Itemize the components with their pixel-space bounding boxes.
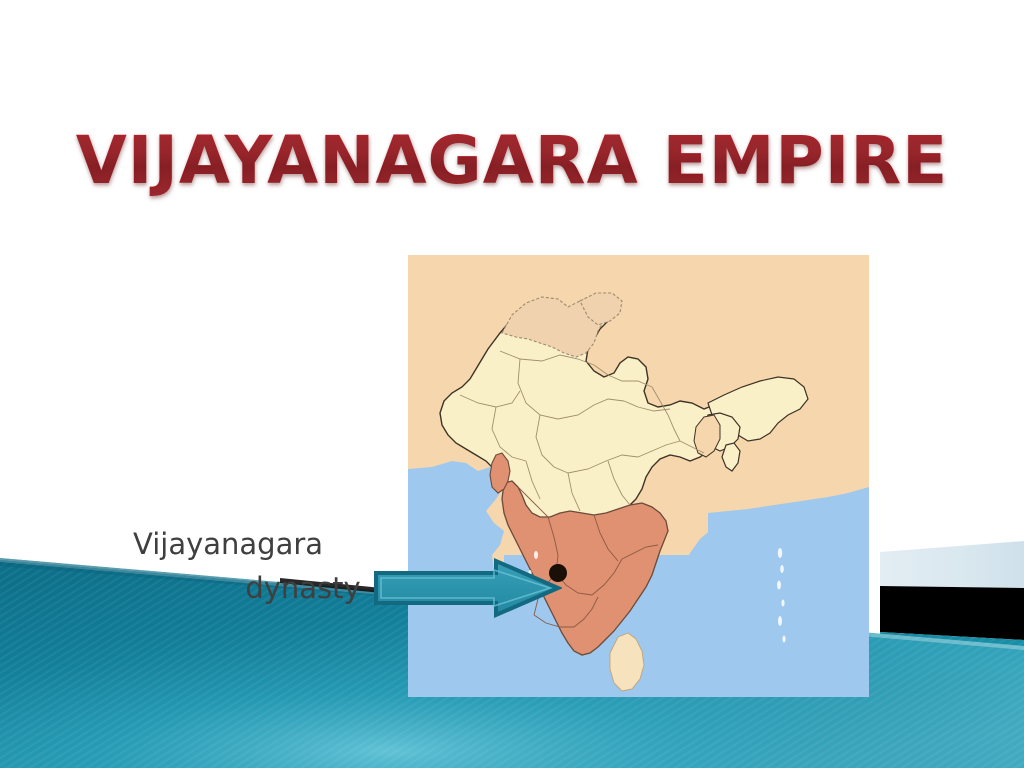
- india-map-svg: Map of India showing the Vijayanagara Em…: [408, 255, 869, 697]
- callout-label: Vijayanagara dynasty: [133, 522, 433, 610]
- banner-teal-right: [880, 632, 1024, 768]
- callout-label-line2: dynasty: [133, 566, 433, 610]
- callout-label-line1: Vijayanagara: [133, 522, 433, 566]
- banner-pale-band: [880, 541, 1024, 588]
- banner-teal-right-texture: [880, 632, 1024, 768]
- slide-title: VIJAYANAGARA EMPIRE: [0, 126, 1024, 195]
- presentation-slide: VIJAYANAGARA EMPIRE Map of India showing…: [0, 0, 1024, 768]
- india-map-image: Map of India showing the Vijayanagara Em…: [408, 255, 869, 697]
- banner-black-band: [880, 586, 1024, 640]
